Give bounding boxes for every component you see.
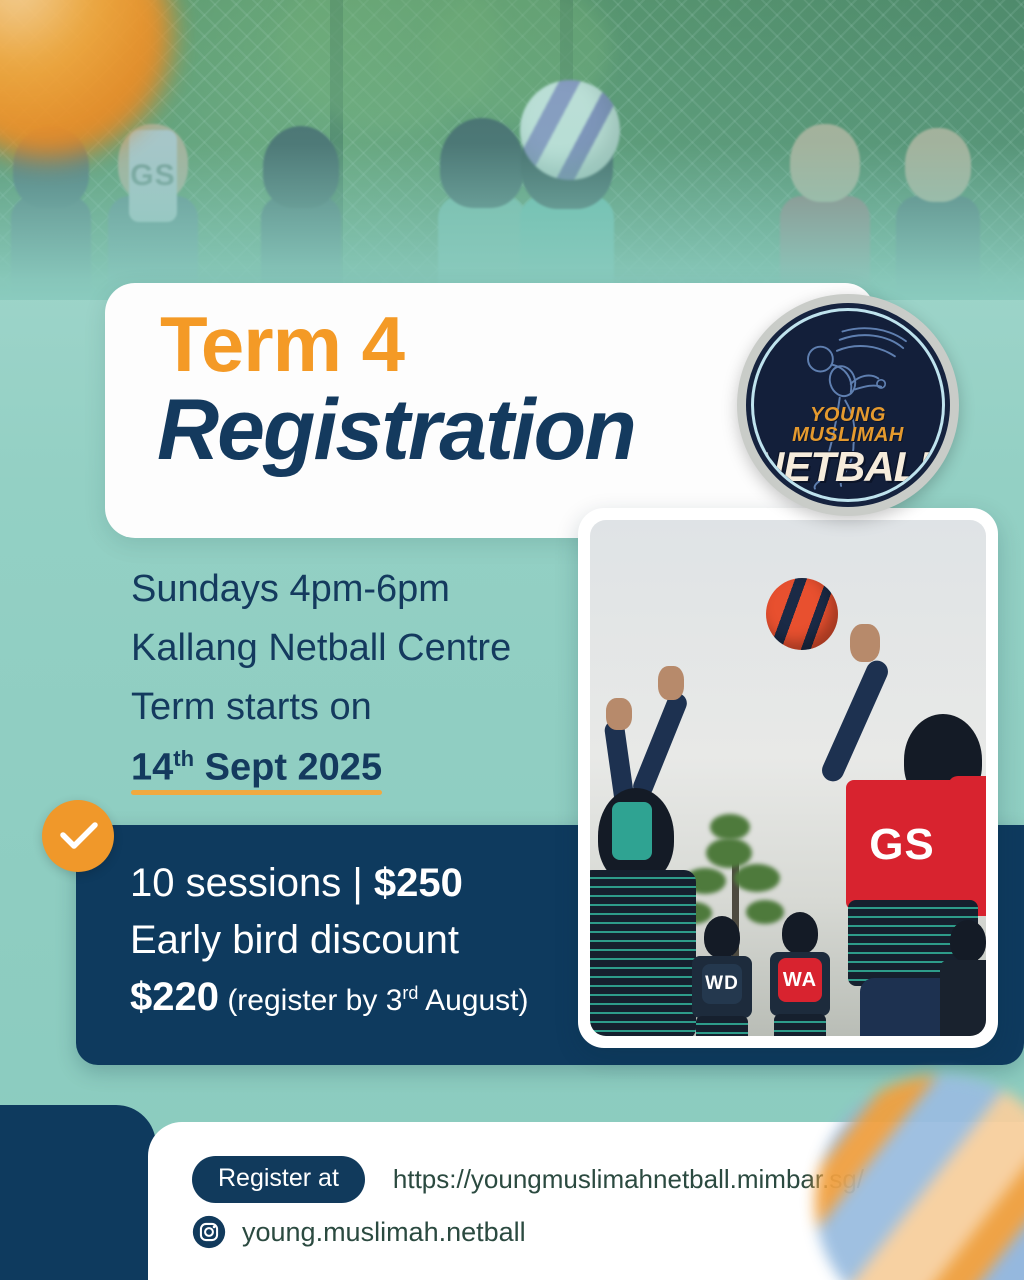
action-photo: GS WD WA	[590, 520, 986, 1036]
bottom-left-navy-panel	[0, 1105, 156, 1280]
action-photo-card: GS WD WA	[578, 508, 998, 1048]
instagram-row[interactable]: young.muslimah.netball	[192, 1215, 526, 1249]
photo-bib-gs: GS	[846, 780, 958, 910]
date-day: 14	[131, 746, 173, 788]
photo-player-wa: WA	[768, 912, 832, 1036]
start-date-text: 14th Sept 2025	[131, 746, 382, 790]
instagram-icon[interactable]	[192, 1215, 226, 1249]
date-rest: Sept 2025	[194, 746, 382, 788]
logo-inner-circle: YOUNG MUSLIMAH NETBALL YMN	[751, 308, 945, 502]
session-details: Sundays 4pm-6pm Kallang Netball Centre T…	[131, 560, 571, 789]
registration-url[interactable]: https://youngmuslimahnetball.mimbar.sg/	[393, 1164, 864, 1195]
pricing-note-prefix: (register by 3	[219, 984, 402, 1017]
logo-top-text: YOUNG MUSLIMAH	[754, 405, 942, 445]
pricing-note-sup: rd	[402, 984, 418, 1017]
logo-main-text: NETBALL	[754, 446, 942, 488]
pricing-lines: 10 sessions | $250 Early bird discount $…	[130, 855, 528, 1025]
pricing-sessions: 10 sessions | $250	[130, 855, 528, 912]
photo-player-wd: WD	[690, 916, 754, 1036]
start-date-highlight: 14th Sept 2025	[131, 746, 382, 790]
check-icon	[60, 822, 98, 852]
logo-text-block: YOUNG MUSLIMAH NETBALL YMN	[754, 405, 942, 499]
date-underline	[131, 790, 382, 795]
logo-outer-ring: YOUNG MUSLIMAH NETBALL YMN	[746, 303, 950, 507]
pricing-note-end: August)	[418, 984, 528, 1017]
detail-line-venue: Kallang Netball Centre	[131, 619, 571, 678]
poster-root: GS Term 4 Registration	[0, 0, 1024, 1280]
instagram-handle[interactable]: young.muslimah.netball	[242, 1217, 526, 1248]
pricing-note-suffix: rd	[402, 983, 418, 1003]
pricing-discount-row: $220 (register by 3rd August)	[130, 969, 528, 1026]
pricing-sessions-label: 10 sessions |	[130, 861, 374, 905]
pricing-discount-label: Early bird discount	[130, 912, 528, 969]
photo-bib-wd: WD	[702, 964, 742, 1004]
photo-player-right	[940, 920, 986, 1036]
brand-logo: YOUNG MUSLIMAH NETBALL YMN	[737, 294, 959, 516]
photo-bib-wa: WA	[778, 958, 822, 1002]
detail-line-start: Term starts on	[131, 678, 571, 737]
register-row: Register at https://youngmuslimahnetball…	[192, 1156, 864, 1203]
decorative-ball-bottom-right	[815, 1075, 1024, 1280]
register-at-pill[interactable]: Register at	[192, 1156, 365, 1203]
date-suffix: th	[173, 746, 194, 771]
checkmark-badge	[42, 800, 114, 872]
pricing-sessions-price: $250	[374, 861, 463, 905]
logo-abbrev-text: YMN	[754, 490, 942, 499]
detail-line-time: Sundays 4pm-6pm	[131, 560, 571, 619]
page-title-registration: Registration	[157, 387, 635, 473]
pricing-discount-price: $220	[130, 975, 219, 1019]
page-title-term: Term 4	[160, 305, 404, 383]
